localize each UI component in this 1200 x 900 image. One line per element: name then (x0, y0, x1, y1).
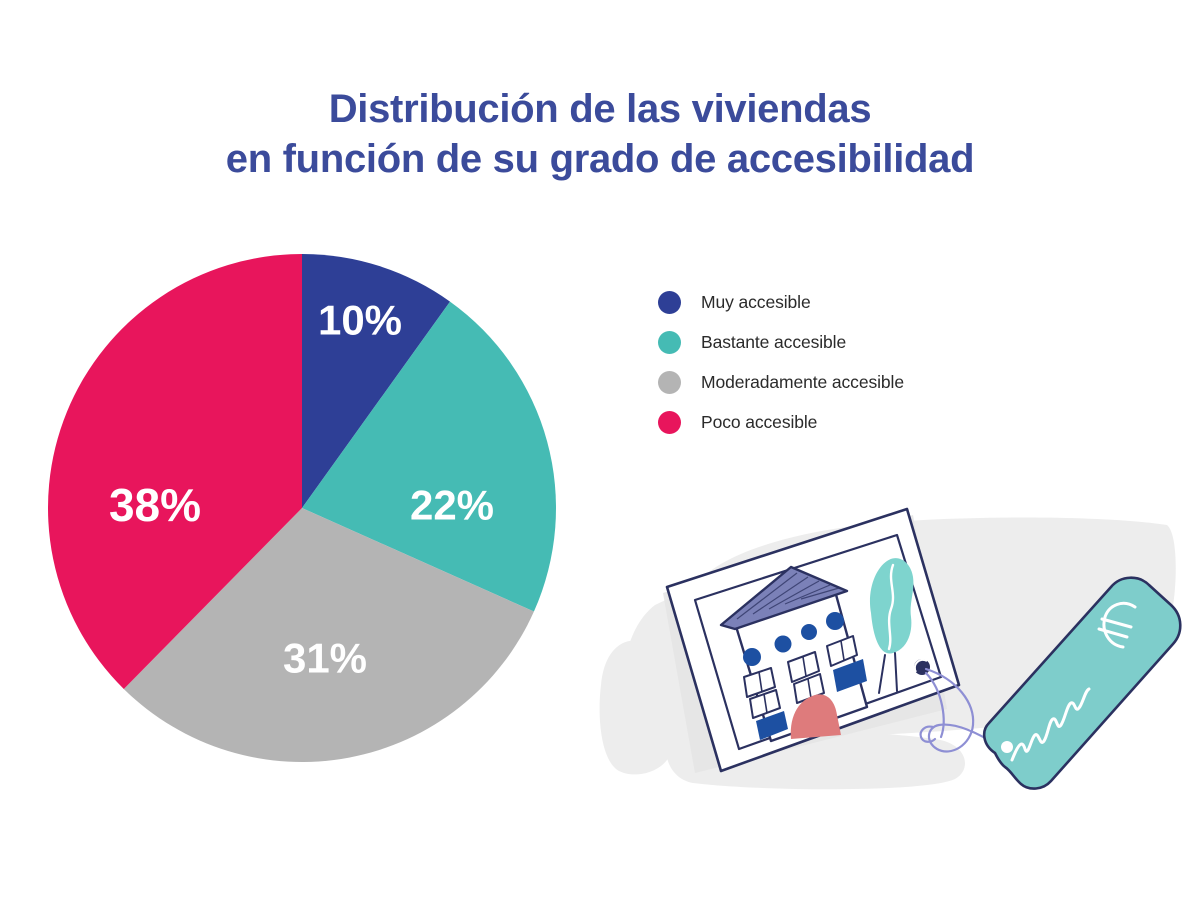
legend-item-label: Poco accesible (701, 412, 817, 433)
page-title: Distribución de las viviendas en función… (0, 84, 1200, 184)
card-eyelet-icon (914, 659, 930, 675)
legend-item-moderadamente-accesible[interactable]: Moderadamente accesible (658, 362, 1078, 402)
legend-swatch-icon (658, 371, 681, 394)
legend-item-muy-accesible[interactable]: Muy accesible (658, 282, 1078, 322)
legend-item-label: Muy accesible (701, 292, 811, 313)
illustration-svg (575, 495, 1185, 795)
legend-item-label: Moderadamente accesible (701, 372, 904, 393)
house-listing-illustration (575, 495, 1185, 795)
pie-chart (48, 254, 556, 762)
legend-item-label: Bastante accesible (701, 332, 846, 353)
chart-legend: Muy accesible Bastante accesible Moderad… (658, 282, 1078, 442)
pie-slices (48, 254, 556, 762)
legend-item-poco-accesible[interactable]: Poco accesible (658, 402, 1078, 442)
pie-chart-svg (48, 254, 556, 762)
legend-item-bastante-accesible[interactable]: Bastante accesible (658, 322, 1078, 362)
legend-swatch-icon (658, 411, 681, 434)
legend-swatch-icon (658, 291, 681, 314)
legend-swatch-icon (658, 331, 681, 354)
